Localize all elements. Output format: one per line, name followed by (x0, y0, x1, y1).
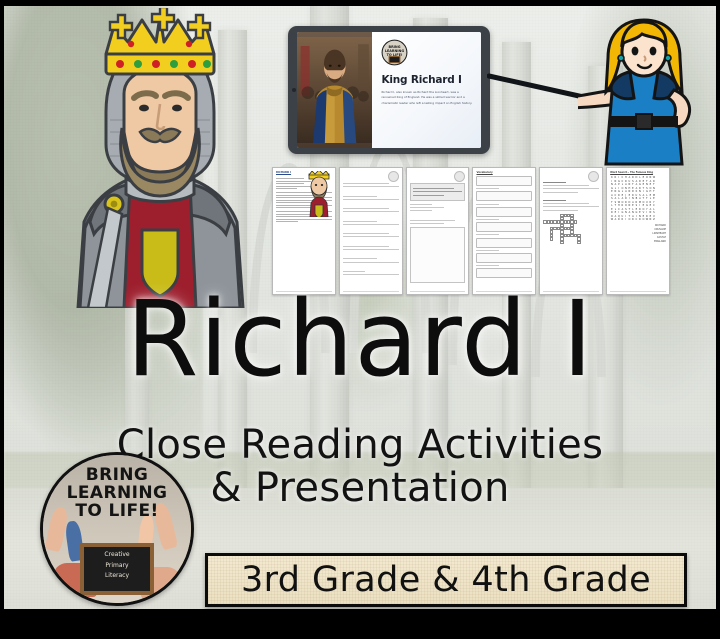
teacher-illustration (578, 18, 710, 174)
page-title: Richard I (0, 292, 720, 388)
slide-logo-icon: BRING LEARNING TO LIFE! (381, 39, 408, 66)
king-richard-illustration (44, 8, 276, 308)
worksheet-prompt-box (410, 183, 466, 201)
worksheet-reading-passage: RICHARD I (272, 167, 336, 295)
logo-line-3: TO LIFE! (43, 502, 191, 520)
tablet-screen: BRING LEARNING TO LIFE! King Richard I R… (297, 32, 481, 148)
crossword-grid (543, 214, 599, 245)
logo-line-1: BRING (43, 466, 191, 484)
grade-banner: 3rd Grade & 4th Grade (205, 553, 687, 607)
worksheet-logo-badge (588, 171, 599, 182)
worksheet-thumbnails: RICHARD I (272, 167, 670, 295)
slide-body-text: Richard I, also known as Richard the Lio… (381, 90, 474, 106)
slide-text-panel: BRING LEARNING TO LIFE! King Richard I R… (372, 32, 481, 148)
slide-king-photo (297, 32, 372, 148)
chalkboard-icon: Creative Primary Literacy (80, 543, 154, 595)
worksheet-word-search: Word Search - The Famous King KRICHARDLE… (606, 167, 670, 295)
worksheet-title: Word Search - The Famous King (610, 171, 666, 174)
brand-logo-badge: BRING LEARNING TO LIFE! Creative Primary… (40, 452, 194, 606)
logo-text: BRING LEARNING TO LIFE! (43, 466, 191, 520)
grade-banner-label: 3rd Grade & 4th Grade (241, 560, 651, 600)
worksheet-response-activity (406, 167, 470, 295)
chalk-line-3: Literacy (87, 571, 147, 582)
chalk-line-2: Primary (87, 561, 147, 572)
worksheet-crossword-puzzle (539, 167, 603, 295)
chalk-line-1: Creative (87, 550, 147, 561)
worksheet-logo-badge (388, 171, 399, 182)
wordsearch-grid: KRICHARDLEONW INGCRUSADETAR NAPLANTAGENE… (610, 176, 666, 222)
product-cover: BRING LEARNING TO LIFE! King Richard I R… (0, 0, 720, 639)
tablet-device: BRING LEARNING TO LIFE! King Richard I R… (288, 26, 490, 154)
logo-line-2: LEARNING (43, 484, 191, 502)
worksheet-title: Vocabulary (476, 171, 532, 174)
king-mini-icon (306, 171, 332, 217)
worksheet-logo-badge (454, 171, 465, 182)
slide-title: King Richard I (381, 74, 474, 86)
worksheet-vocabulary-activity: Vocabulary (472, 167, 536, 295)
worksheet-comprehension-questions (339, 167, 403, 295)
